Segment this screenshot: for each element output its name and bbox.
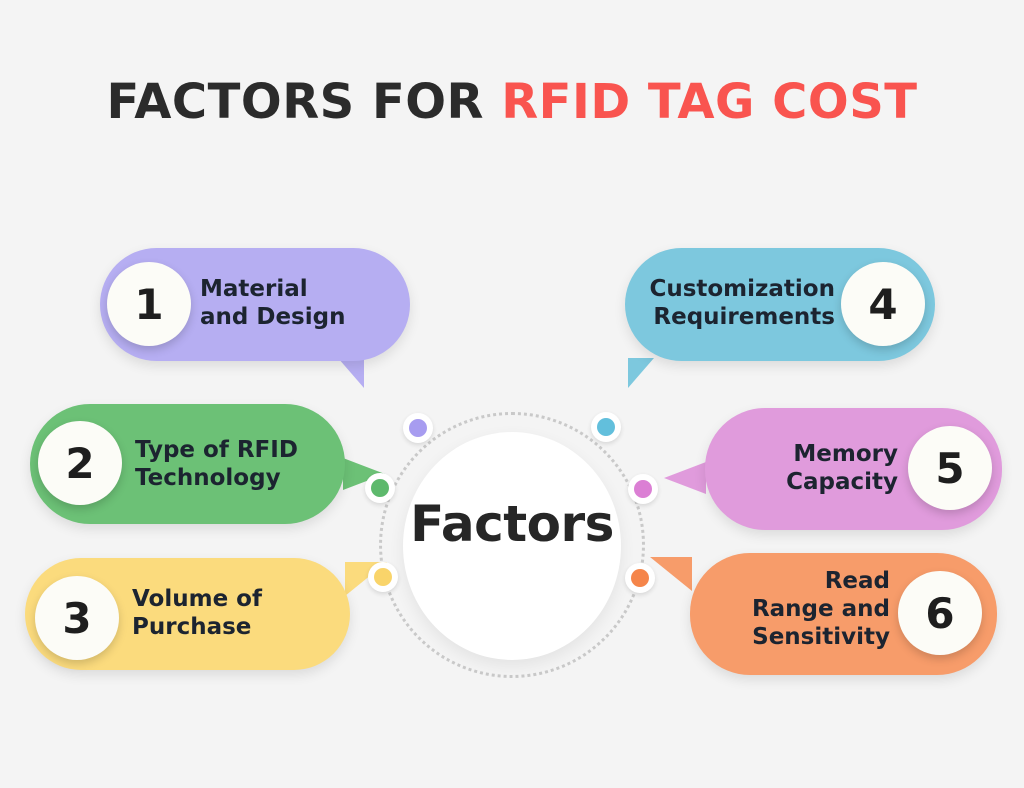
- factor-label-2-line2: Technology: [135, 464, 298, 492]
- factor-item-5[interactable]: 5 Memory Capacity: [705, 408, 1002, 530]
- factor-number-1: 1: [107, 262, 191, 346]
- connector-dot-5: [628, 474, 658, 504]
- factor-label-6: Read Range and Sensitivity: [710, 567, 890, 651]
- factor-number-6: 6: [898, 571, 982, 655]
- connector-dot-4-fill: [597, 418, 615, 436]
- factor-item-4[interactable]: 4 Customization Requirements: [625, 248, 935, 361]
- bubble-tail-4: [628, 358, 654, 388]
- connector-dot-5-fill: [634, 480, 652, 498]
- factor-label-1-line1: Material: [200, 275, 345, 303]
- factor-label-6-line1: Read: [710, 567, 890, 595]
- factor-label-1-line2: and Design: [200, 303, 345, 331]
- title-accent: RFID TAG COST: [501, 74, 917, 130]
- title-primary: FACTORS FOR: [107, 74, 485, 130]
- factor-label-4-line1: Customization: [637, 275, 835, 303]
- infographic-canvas: FACTORS FOR RFID TAG COST Factors 1 Mate…: [0, 0, 1024, 788]
- factor-number-3: 3: [35, 576, 119, 660]
- hub-label: Factors: [403, 495, 621, 553]
- factor-label-4-line2: Requirements: [637, 303, 835, 331]
- factor-item-2[interactable]: 2 Type of RFID Technology: [30, 404, 345, 524]
- factor-item-3[interactable]: 3 Volume of Purchase: [25, 558, 350, 670]
- factor-number-2: 2: [38, 421, 122, 505]
- factor-label-5: Memory Capacity: [733, 440, 898, 496]
- connector-dot-3: [368, 562, 398, 592]
- connector-dot-2-fill: [371, 479, 389, 497]
- connector-dot-6-fill: [631, 569, 649, 587]
- bubble-tail-1: [338, 358, 364, 388]
- connector-dot-1-fill: [409, 419, 427, 437]
- factor-label-6-line3: Sensitivity: [710, 623, 890, 651]
- factor-label-3: Volume of Purchase: [132, 585, 262, 641]
- connector-dot-6: [625, 563, 655, 593]
- factor-item-6[interactable]: 6 Read Range and Sensitivity: [690, 553, 997, 675]
- factor-label-6-line2: Range and: [710, 595, 890, 623]
- connector-dot-4: [591, 412, 621, 442]
- factor-number-5: 5: [908, 426, 992, 510]
- factor-label-3-line2: Purchase: [132, 613, 262, 641]
- factor-label-3-line1: Volume of: [132, 585, 262, 613]
- factor-label-2: Type of RFID Technology: [135, 436, 298, 492]
- factor-label-5-line2: Capacity: [733, 468, 898, 496]
- page-title: FACTORS FOR RFID TAG COST: [0, 74, 1024, 130]
- factor-label-5-line1: Memory: [733, 440, 898, 468]
- connector-dot-3-fill: [374, 568, 392, 586]
- factor-label-4: Customization Requirements: [637, 275, 835, 331]
- factor-label-1: Material and Design: [200, 275, 345, 331]
- connector-dot-1: [403, 413, 433, 443]
- connector-dot-2: [365, 473, 395, 503]
- bubble-tail-6: [650, 557, 692, 591]
- factor-number-4: 4: [841, 262, 925, 346]
- factor-item-1[interactable]: 1 Material and Design: [100, 248, 410, 361]
- factor-label-2-line1: Type of RFID: [135, 436, 298, 464]
- bubble-tail-5: [664, 462, 706, 494]
